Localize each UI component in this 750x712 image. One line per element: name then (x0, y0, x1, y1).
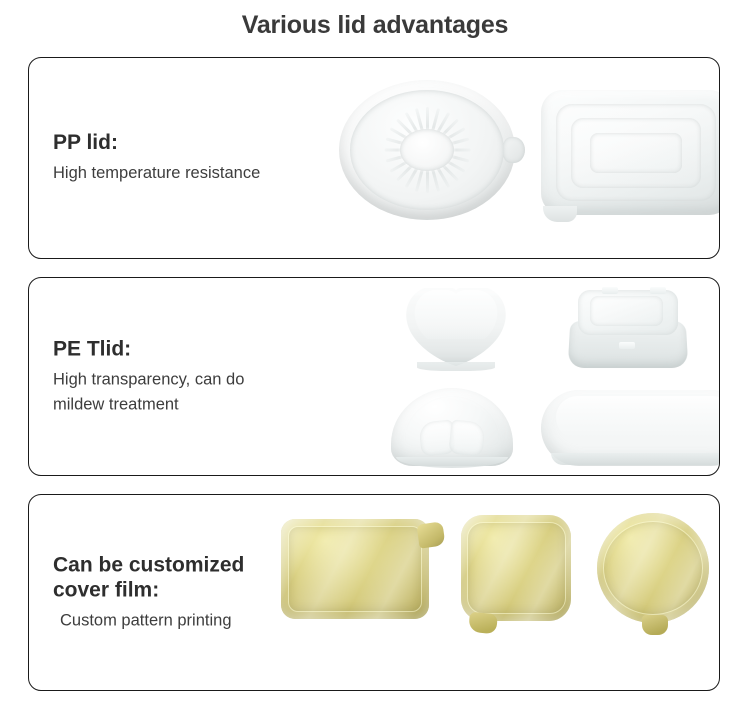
lid-skirt (417, 362, 494, 371)
lid-skirt (551, 453, 720, 465)
foil-inner-rim (467, 522, 566, 613)
lid-center-panel (590, 296, 663, 326)
card-pp-media (29, 58, 719, 258)
lid-tab (503, 137, 525, 163)
lid-center-hub (400, 129, 454, 171)
heart-shaped-pe-lid-image (387, 288, 525, 368)
lid-skirt (396, 457, 508, 468)
card-pe-text-block: PE Tlid: High transparency, can do milde… (53, 336, 353, 417)
round-ribbed-pp-lid-image (339, 80, 515, 220)
foil-tab (642, 615, 668, 635)
foil-inner-rim (603, 521, 704, 616)
card-pe-media (359, 278, 719, 475)
lid-ridge-inner (590, 133, 681, 173)
lid-top-face (556, 396, 720, 439)
foil-tab (416, 521, 445, 548)
rectangular-gold-foil-cover-image (281, 519, 429, 619)
square-gold-foil-cover-image (461, 515, 571, 621)
square-pe-lid-image (569, 290, 687, 368)
oval-pe-lid-image (541, 390, 720, 466)
round-gold-foil-cover-image (597, 513, 709, 623)
rectangular-pp-lid-image (541, 90, 720, 215)
card-cover-film-media (29, 495, 719, 690)
lid-notch (602, 287, 618, 294)
lid-notch (650, 287, 666, 294)
foil-inner-rim (288, 526, 421, 612)
foil-tab (468, 612, 498, 635)
lid-notch (619, 342, 635, 349)
round-dome-pe-lid-image (391, 388, 513, 466)
card-cover-film: Can be customized cover film: Custom pat… (28, 494, 720, 691)
card-pp-lid: PP lid: High temperature resistance (28, 57, 720, 259)
page-title: Various lid advantages (0, 0, 750, 40)
card-pe-subtitle: High transparency, can do mildew treatme… (53, 367, 353, 417)
card-pe-heading: PE Tlid: (53, 336, 353, 361)
lid-corner-nub (543, 206, 577, 222)
card-pe-lid: PE Tlid: High transparency, can do milde… (28, 277, 720, 476)
